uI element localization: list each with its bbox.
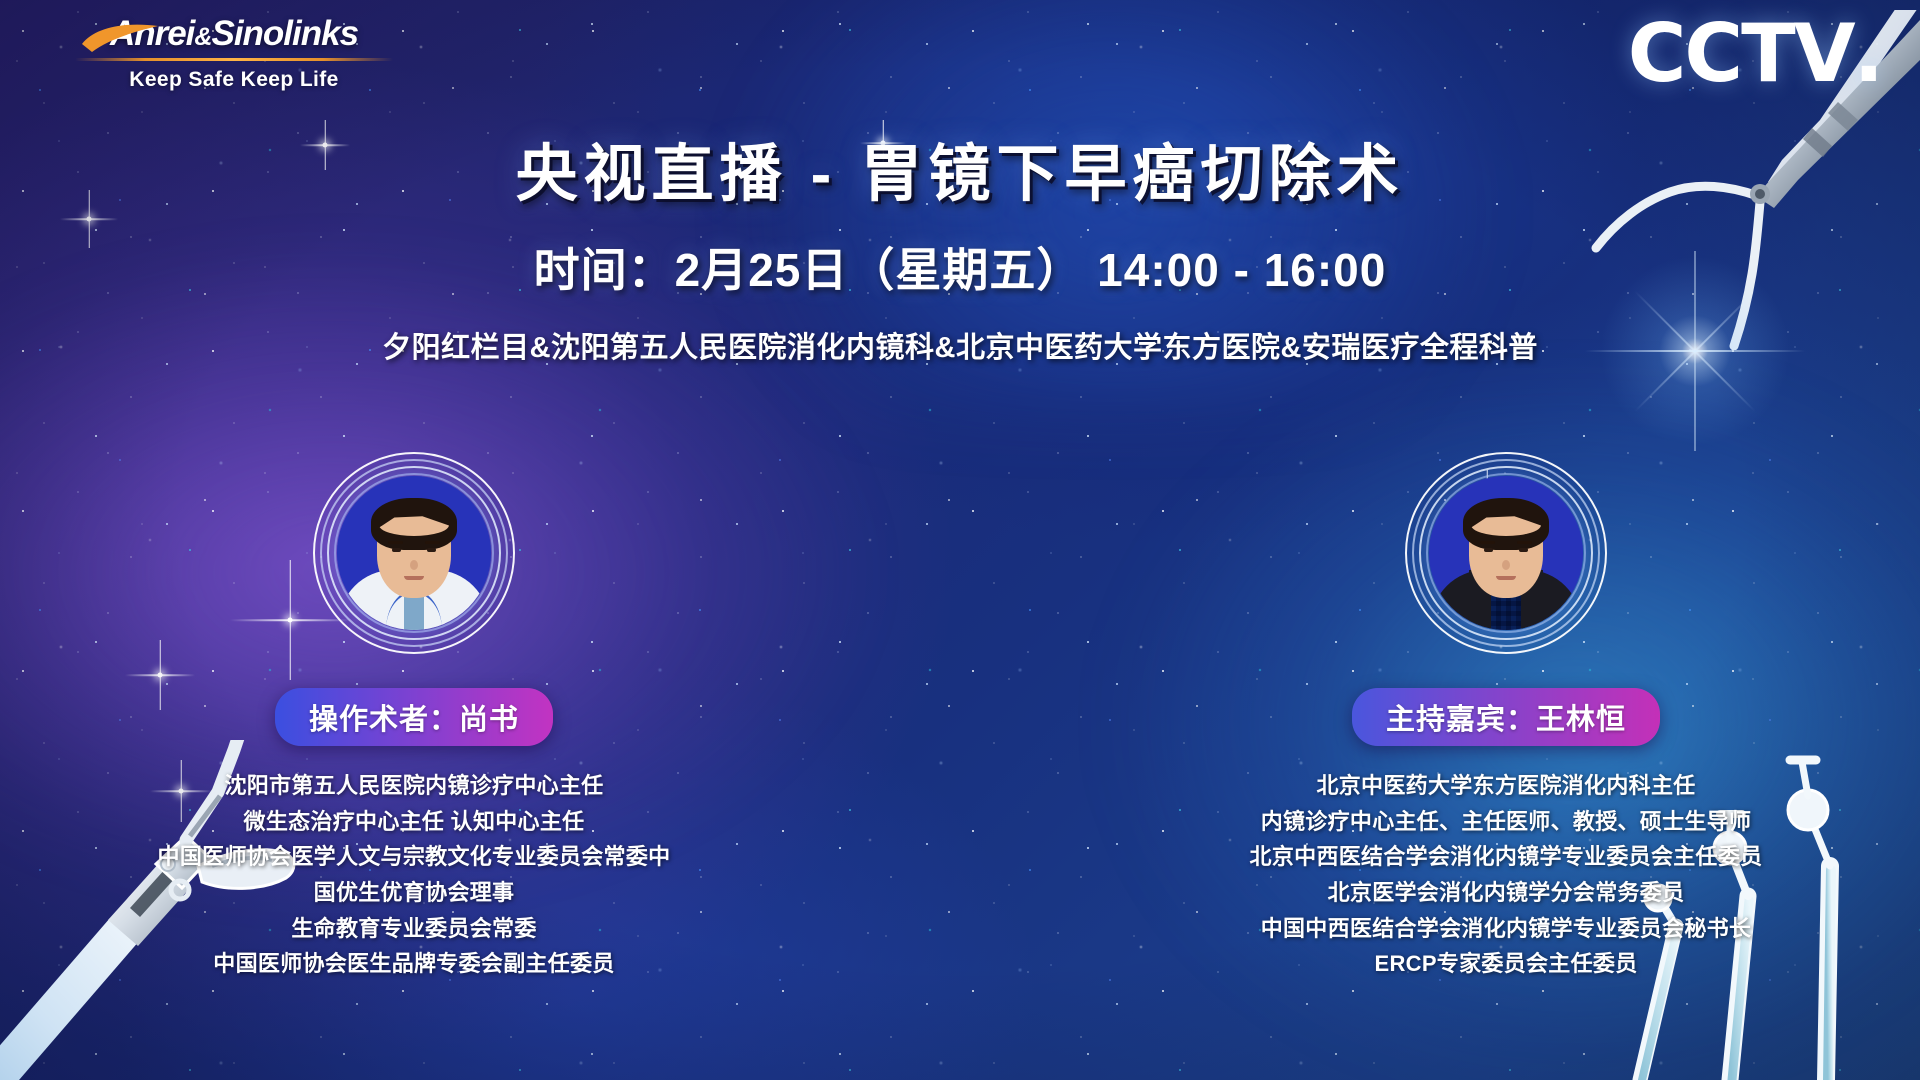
list-item: 中国中西医结合学会消化内镜学专业委员会秘书长 [1250, 911, 1763, 947]
company-tagline: Keep Safe Keep Life [74, 68, 394, 92]
list-item: 沈阳市第五人民医院内镜诊疗中心主任 [158, 768, 671, 804]
cctv-logo: CCTV. [1628, 14, 1884, 94]
list-item: 中国医师协会医学人文与宗教文化专业委员会常委中 [158, 839, 671, 875]
list-item: 北京医学会消化内镜学分会常务委员 [1250, 875, 1763, 911]
status-badge: 主持嘉宾：王林恒 [1352, 688, 1660, 746]
broadcast-time: 时间：2月25日（星期五） 14:00 - 16:00 [0, 234, 1920, 300]
title-block: 央视直播 - 胃镜下早癌切除术 时间：2月25日（星期五） 14:00 - 16… [0, 136, 1920, 366]
status-badge: 操作术者：尚书 [275, 688, 553, 746]
speaker-card-operator: 操作术者：尚书 沈阳市第五人民医院内镜诊疗中心主任 微生态治疗中心主任 认知中心… [134, 452, 694, 982]
live-broadcast-poster: Anrei&Sinolinks Keep Safe Keep Life CCTV… [0, 0, 1920, 1080]
page-title: 央视直播 - 胃镜下早癌切除术 [0, 136, 1920, 214]
list-item: 国优生优育协会理事 [158, 875, 671, 911]
list-item: ERCP专家委员会主任委员 [1250, 946, 1763, 982]
company-name-amp: & [194, 23, 211, 51]
list-item: 中国医师协会医生品牌专委会副主任委员 [158, 946, 671, 982]
credentials-list: 沈阳市第五人民医院内镜诊疗中心主任 微生态治疗中心主任 认知中心主任 中国医师协… [158, 768, 671, 982]
list-item: 微生态治疗中心主任 认知中心主任 [158, 804, 671, 840]
credentials-list: 北京中医药大学东方医院消化内科主任 内镜诊疗中心主任、主任医师、教授、硕士生导师… [1250, 768, 1763, 982]
cctv-logo-text: CCTV [1628, 7, 1854, 100]
avatar [337, 476, 491, 630]
company-name-part1: Anrei [110, 14, 194, 53]
organizers-line: 夕阳红栏目&沈阳第五人民医院消化内镜科&北京中医药大学东方医院&安瑞医疗全程科普 [0, 324, 1920, 366]
list-item: 生命教育专业委员会常委 [158, 911, 671, 947]
avatar-ring [313, 452, 515, 654]
avatar [1429, 476, 1583, 630]
list-item: 北京中医药大学东方医院消化内科主任 [1250, 768, 1763, 804]
speaker-card-host: 主持嘉宾：王林恒 北京中医药大学东方医院消化内科主任 内镜诊疗中心主任、主任医师… [1226, 452, 1786, 982]
company-name: Anrei&Sinolinks [74, 16, 394, 53]
list-item: 内镜诊疗中心主任、主任医师、教授、硕士生导师 [1250, 804, 1763, 840]
cctv-logo-dot: . [1854, 7, 1884, 100]
company-name-part2: Sinolinks [211, 14, 358, 53]
list-item: 北京中西医结合学会消化内镜学专业委员会主任委员 [1250, 839, 1763, 875]
company-logo: Anrei&Sinolinks Keep Safe Keep Life [74, 16, 394, 92]
avatar-ring [1405, 452, 1607, 654]
speakers-section: 操作术者：尚书 沈阳市第五人民医院内镜诊疗中心主任 微生态治疗中心主任 认知中心… [0, 452, 1920, 982]
brand-divider [75, 58, 393, 61]
